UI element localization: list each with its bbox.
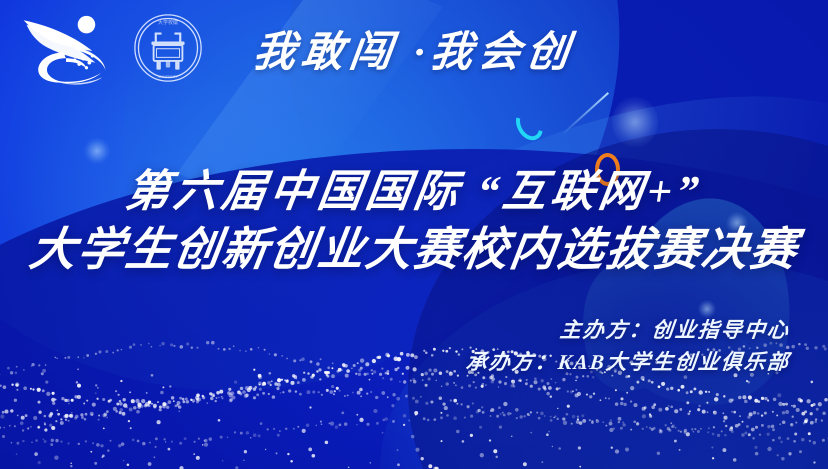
main-title: 第六届中国国际 “互联网+” 大学生创新创业大赛校内选拔赛决赛 — [0, 165, 828, 279]
competition-logo-icon — [22, 10, 110, 86]
poster-canvas: 大学校徽 UNIVERSITY 我敢闯 ·我会创 第六届中国国际 “互联网+” … — [0, 0, 828, 469]
title-line-1: 第六届中国国际 “互联网+” — [0, 165, 828, 219]
svg-text:大学校徽: 大学校徽 — [158, 19, 178, 26]
header-logo-row: 大学校徽 UNIVERSITY 我敢闯 ·我会创 — [22, 10, 575, 86]
glow-dot-2 — [612, 96, 658, 148]
host-line: 主办方：创业指导中心 — [464, 314, 791, 346]
glow-dot-1 — [84, 138, 110, 164]
slogan-text: 我敢闯 ·我会创 — [250, 18, 579, 79]
university-seal-icon: 大学校徽 UNIVERSITY — [132, 12, 204, 84]
svg-text:UNIVERSITY: UNIVERSITY — [158, 75, 179, 79]
organizer-line: 承办方：KAB大学生创业俱乐部 — [464, 346, 791, 378]
title-line-2: 大学生创新创业大赛校内选拔赛决赛 — [0, 221, 828, 279]
organizer-block: 主办方：创业指导中心 承办方：KAB大学生创业俱乐部 — [466, 314, 790, 378]
